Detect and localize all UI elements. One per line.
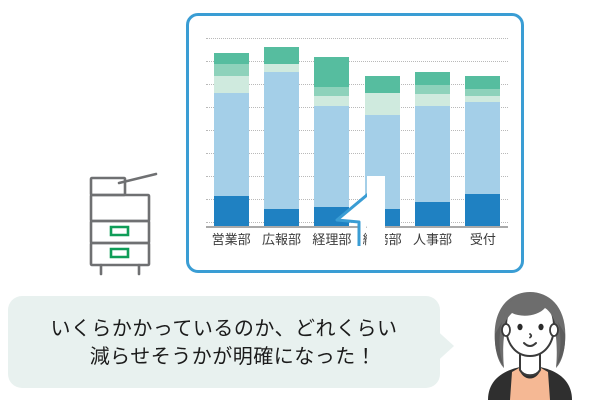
- bar-segment-段4: [314, 87, 349, 96]
- bar-segment-段2: [465, 102, 500, 194]
- chart-bars-layer: [206, 38, 508, 226]
- x-axis-label-広報部: 広報部: [256, 230, 306, 252]
- bar-segment-段3: [214, 76, 249, 93]
- bar-segment-段5: [415, 72, 450, 85]
- woman-avatar: [462, 282, 598, 400]
- bar-segment-段3: [415, 94, 450, 105]
- multifunction-printer-icon: [82, 172, 158, 276]
- bar-segment-段4: [214, 64, 249, 75]
- bar-segment-段2: [415, 106, 450, 202]
- bar-受付: [465, 76, 500, 226]
- speech-line-1: いくらかかっているのか、どれくらい: [50, 314, 397, 342]
- bar-segment-段3: [264, 64, 299, 72]
- bar-segment-段1: [415, 202, 450, 226]
- x-axis-label-経理部: 経理部: [307, 230, 357, 252]
- bar-segment-段5: [365, 76, 400, 93]
- bar-segment-段1: [465, 194, 500, 226]
- bar-segment-段5: [264, 47, 299, 64]
- bar-segment-段2: [314, 106, 349, 208]
- bar-segment-段2: [264, 72, 299, 209]
- speech-bubble: いくらかかっているのか、どれくらい 減らせそうかが明確になった！: [8, 296, 440, 388]
- speech-bubble-text: いくらかかっているのか、どれくらい 減らせそうかが明確になった！: [40, 314, 407, 371]
- chart-x-axis-labels: 営業部広報部経理部総務部人事部受付: [206, 230, 508, 256]
- bar-広報部: [264, 47, 299, 226]
- x-axis-label-受付: 受付: [458, 230, 508, 252]
- bar-営業部: [214, 53, 249, 226]
- x-axis-label-営業部: 営業部: [206, 230, 256, 252]
- bar-segment-段2: [365, 115, 400, 209]
- eye-right: [538, 324, 543, 330]
- bar-segment-段3: [365, 93, 400, 116]
- chart-x-axis-line: [206, 226, 508, 228]
- bar-segment-段5: [314, 57, 349, 87]
- bar-segment-段2: [214, 93, 249, 196]
- bar-segment-段5: [214, 53, 249, 64]
- chart-callout-panel: 営業部広報部経理部総務部人事部受付: [186, 13, 524, 273]
- bar-segment-段1: [214, 196, 249, 226]
- eye-left: [517, 324, 522, 330]
- bar-segment-段5: [465, 76, 500, 89]
- bar-segment-段4: [415, 85, 450, 94]
- bar-segment-段3: [314, 96, 349, 105]
- bar-segment-段4: [465, 89, 500, 97]
- x-axis-label-人事部: 人事部: [407, 230, 457, 252]
- bar-segment-段1: [365, 209, 400, 226]
- bar-segment-段1: [264, 209, 299, 226]
- speech-line-2: 減らせそうかが明確になった！: [50, 342, 397, 370]
- bar-segment-段1: [314, 207, 349, 226]
- x-axis-label-総務部: 総務部: [357, 230, 407, 252]
- bar-人事部: [415, 72, 450, 226]
- bar-経理部: [314, 57, 349, 226]
- bar-総務部: [365, 76, 400, 226]
